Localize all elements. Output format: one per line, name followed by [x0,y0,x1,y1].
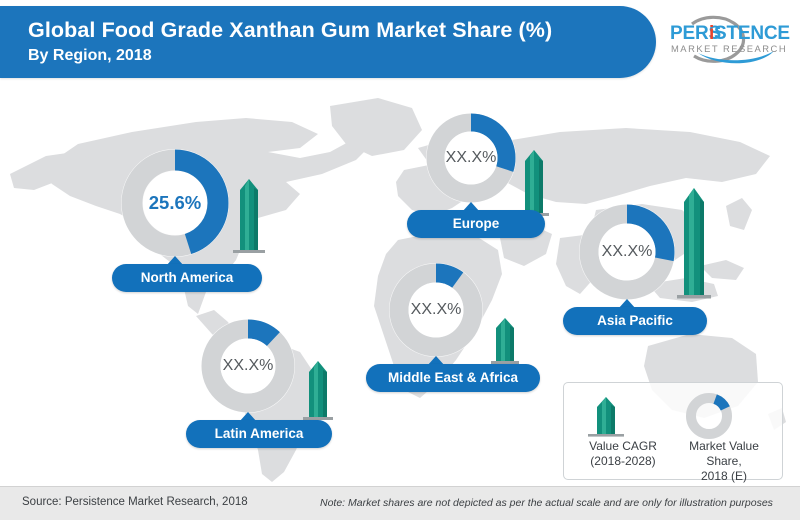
region-label-europe[interactable]: Europe [407,210,545,238]
legend-donut-icon [684,391,734,446]
region-label-asia-pacific[interactable]: Asia Pacific [563,307,707,335]
region-middle-east-africa[interactable]: XX.X% [388,262,484,358]
legend-cagr-line1: Value CAGR [589,439,657,453]
legend-cagr-line2: (2018-2028) [590,454,655,468]
logo-brand-top-2: STENCE [714,23,790,44]
bar-middle-east-africa [490,313,520,367]
footer-bar: Source: Persistence Market Research, 201… [0,486,800,520]
region-europe[interactable]: XX.X% [425,112,517,204]
bar-asia-pacific [676,178,712,302]
region-label-latin-america[interactable]: Latin America [186,420,332,448]
header-banner: Global Food Grade Xanthan Gum Market Sha… [0,6,656,78]
donut-latin-america [200,318,296,414]
logo-brand-bottom: MARKET RESEARCH [671,43,787,54]
legend-panel: Value CAGR (2018-2028) Market Value Shar… [563,382,783,480]
persistence-market-research-logo: PERS i STENCE MARKET RESEARCH [662,8,796,70]
legend-label-market-value-share: Market Value Share, 2018 (E) [672,439,776,484]
legend-bar-icon [586,393,626,444]
bar-europe [518,141,550,219]
region-asia-pacific[interactable]: XX.X% [578,203,676,301]
donut-middle-east-africa [388,262,484,358]
footer-source-text: Source: Persistence Market Research, 201… [22,496,248,508]
infographic-canvas: Global Food Grade Xanthan Gum Market Sha… [0,0,800,520]
bar-latin-america [302,355,334,423]
bar-north-america [232,171,266,256]
donut-asia-pacific [578,203,676,301]
legend-share-line1: Market Value Share, [689,439,759,468]
legend-label-value-cagr: Value CAGR (2018-2028) [574,439,672,469]
region-latin-america[interactable]: XX.X% [200,318,296,414]
region-label-middle-east-africa[interactable]: Middle East & Africa [366,364,540,392]
page-subtitle: By Region, 2018 [28,47,152,65]
footer-note-text: Note: Market shares are not depicted as … [320,497,773,509]
page-title: Global Food Grade Xanthan Gum Market Sha… [28,18,552,43]
region-north-america[interactable]: 25.6% [120,148,230,258]
region-label-north-america[interactable]: North America [112,264,262,292]
donut-europe [425,112,517,204]
donut-north-america [120,148,230,258]
legend-share-line2: 2018 (E) [701,469,747,483]
